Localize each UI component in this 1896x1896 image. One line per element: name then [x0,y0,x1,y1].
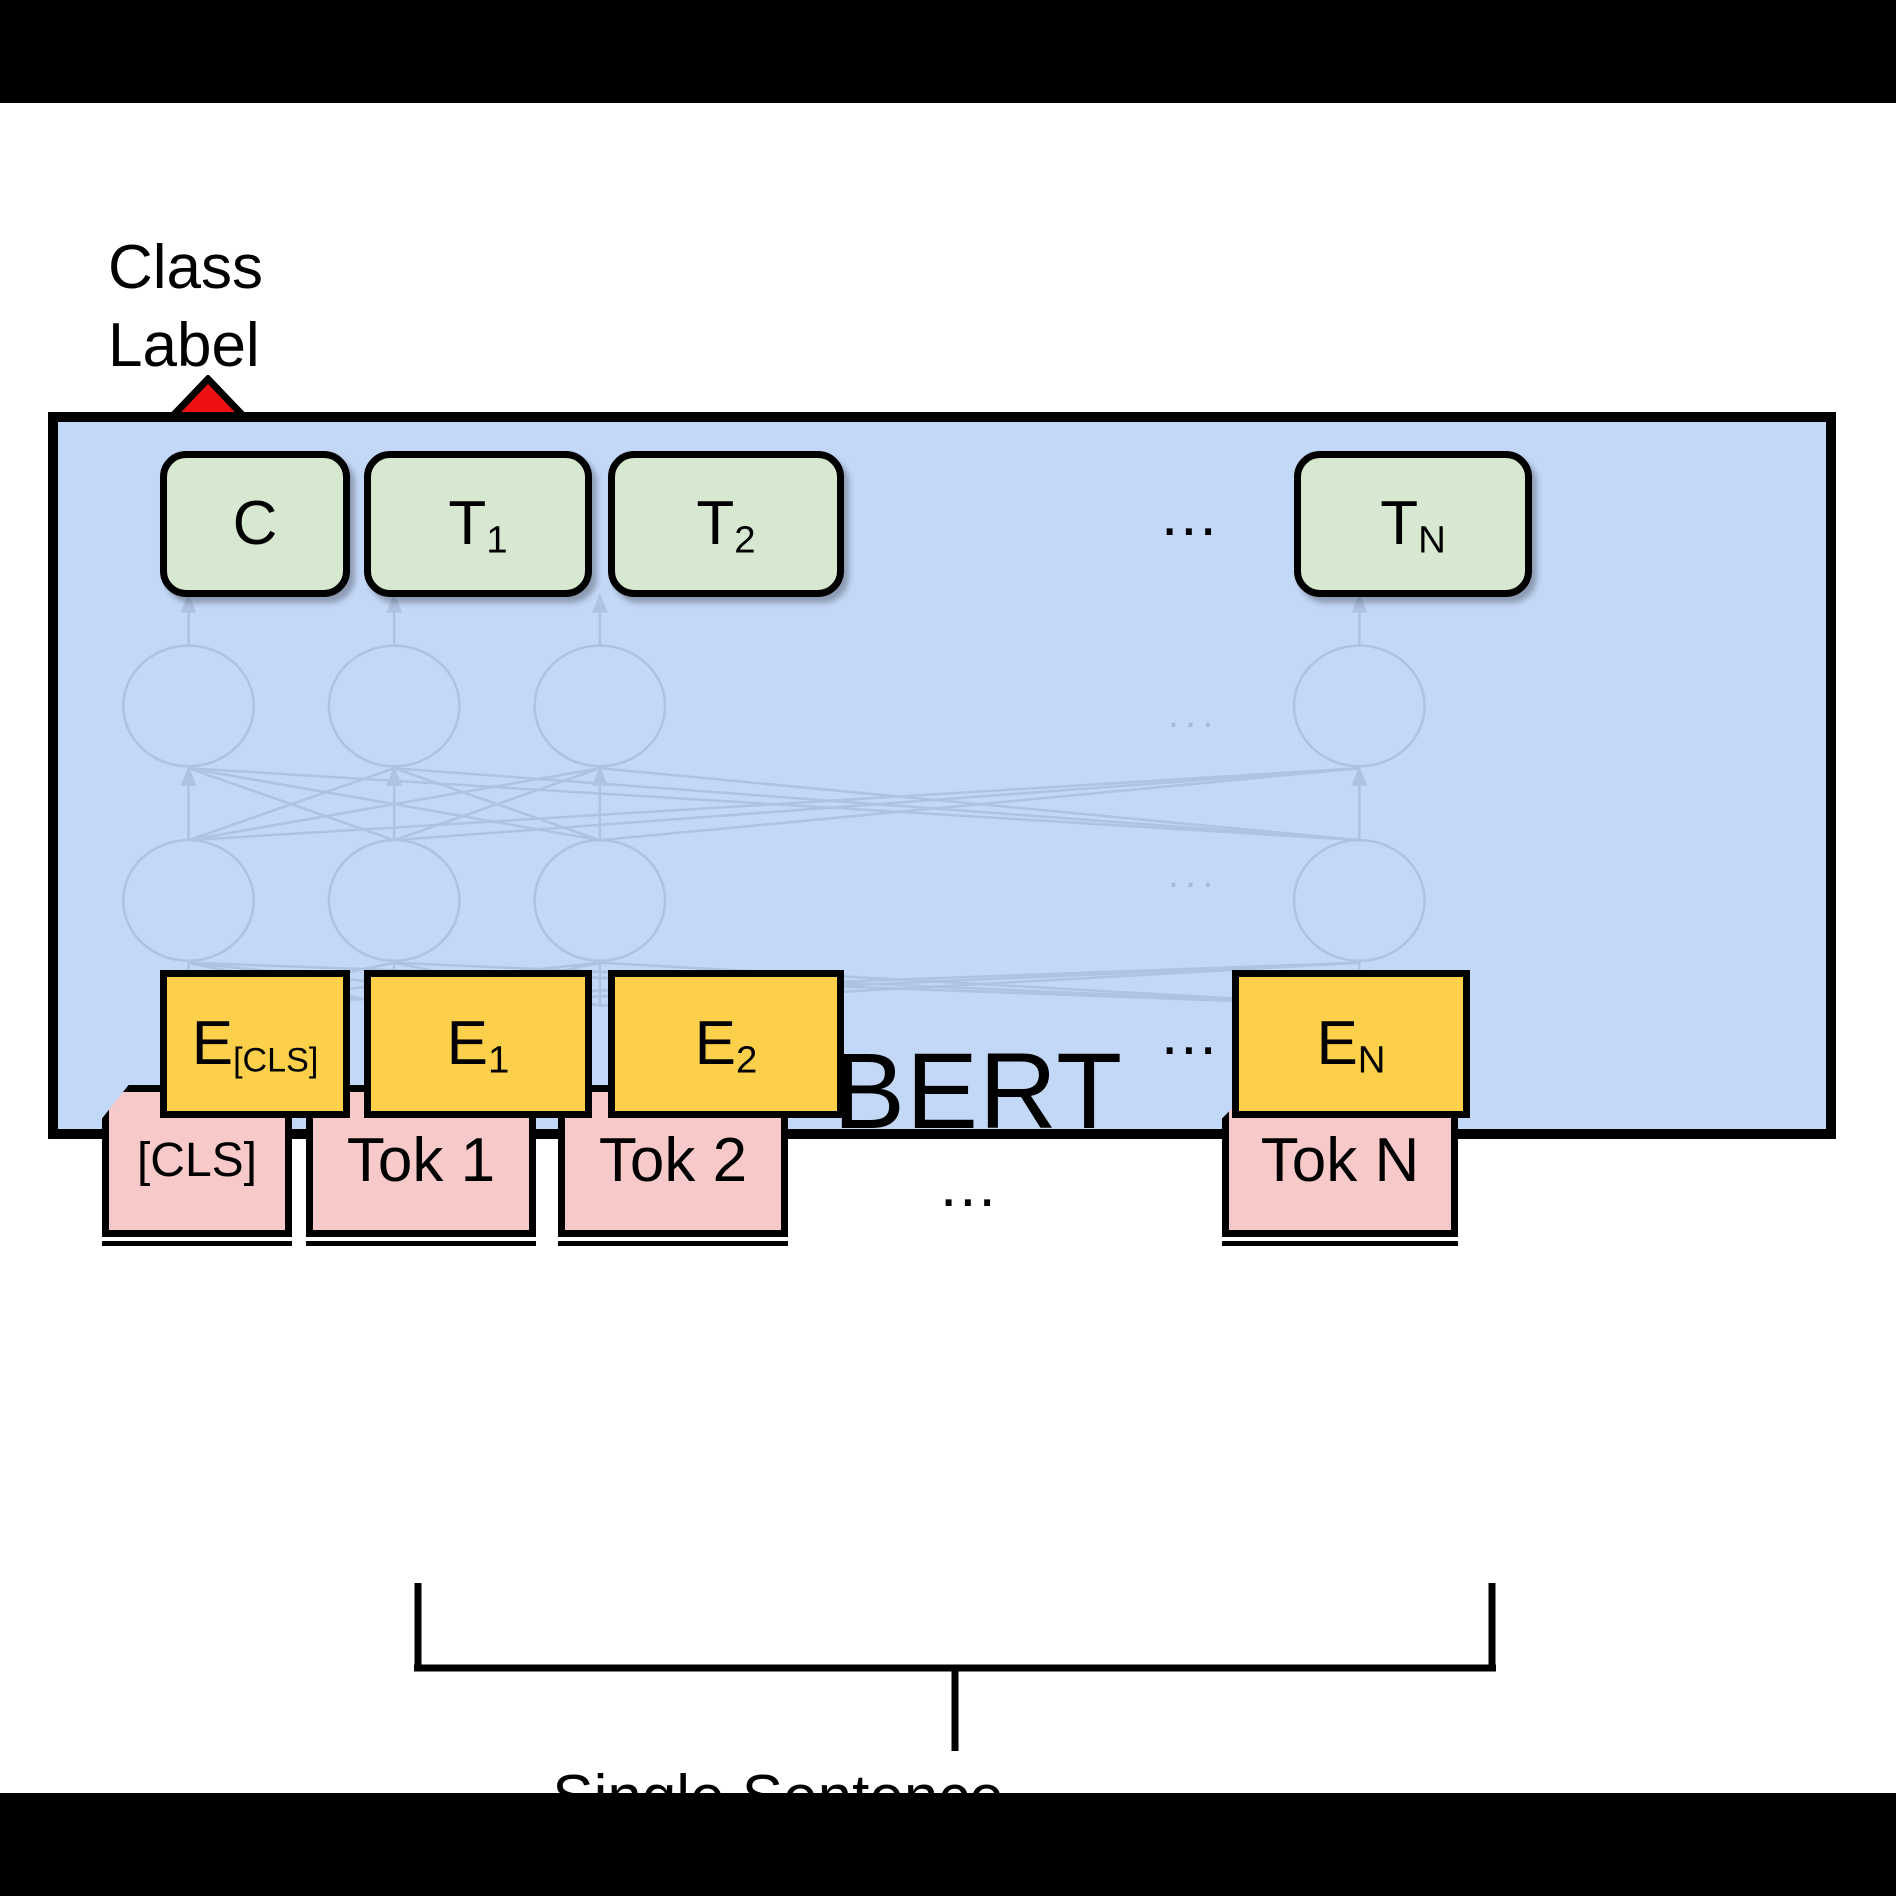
bert-encoder-container: ... ... BERT C T1 T2 [48,412,1836,1139]
token-box-cls-label: [CLS] [137,1130,257,1192]
output-box-t2-label: T2 [696,493,755,555]
network-ellipsis-upper: ... [1168,704,1219,724]
embedding-box-en-label: EN [1316,1013,1385,1075]
single-sentence-bracket [400,1583,1510,1753]
token-box-1-label: Tok 1 [347,1130,495,1192]
output-box-t2[interactable]: T2 [608,451,844,597]
network-ellipsis-lower: ... [1168,864,1219,884]
token-box-1-underline [306,1241,536,1246]
embedding-box-e1[interactable]: E1 [364,970,592,1118]
input-caption: Single Sentence [448,1763,1108,1833]
embedding-box-cls-label: E[CLS] [192,1013,319,1075]
figure-paper: Class Label [0,103,1896,1793]
output-row-ellipsis: ... [1161,484,1219,546]
token-box-cls-underline [102,1241,292,1246]
output-box-tn-label: TN [1380,493,1446,555]
output-box-t1[interactable]: T1 [364,451,592,597]
token-box-n-underline [1222,1241,1458,1246]
token-box-2-underline [558,1241,788,1246]
token-row-ellipsis: ... [940,1155,998,1217]
embedding-box-cls[interactable]: E[CLS] [160,970,350,1118]
bert-model-label: BERT [758,1037,1198,1145]
output-box-t1-label: T1 [448,493,507,555]
output-box-c-label: C [233,493,278,555]
embedding-box-e2-label: E2 [695,1013,758,1075]
class-label-text: Class Label [108,229,428,385]
embedding-box-en[interactable]: EN [1232,970,1470,1118]
token-box-2-label: Tok 2 [599,1130,747,1192]
figure-canvas: Class Label [0,0,1896,1896]
token-box-n-label: Tok N [1261,1130,1419,1192]
output-box-tn[interactable]: TN [1294,451,1532,597]
embedding-box-e1-label: E1 [447,1013,510,1075]
output-box-c[interactable]: C [160,451,350,597]
